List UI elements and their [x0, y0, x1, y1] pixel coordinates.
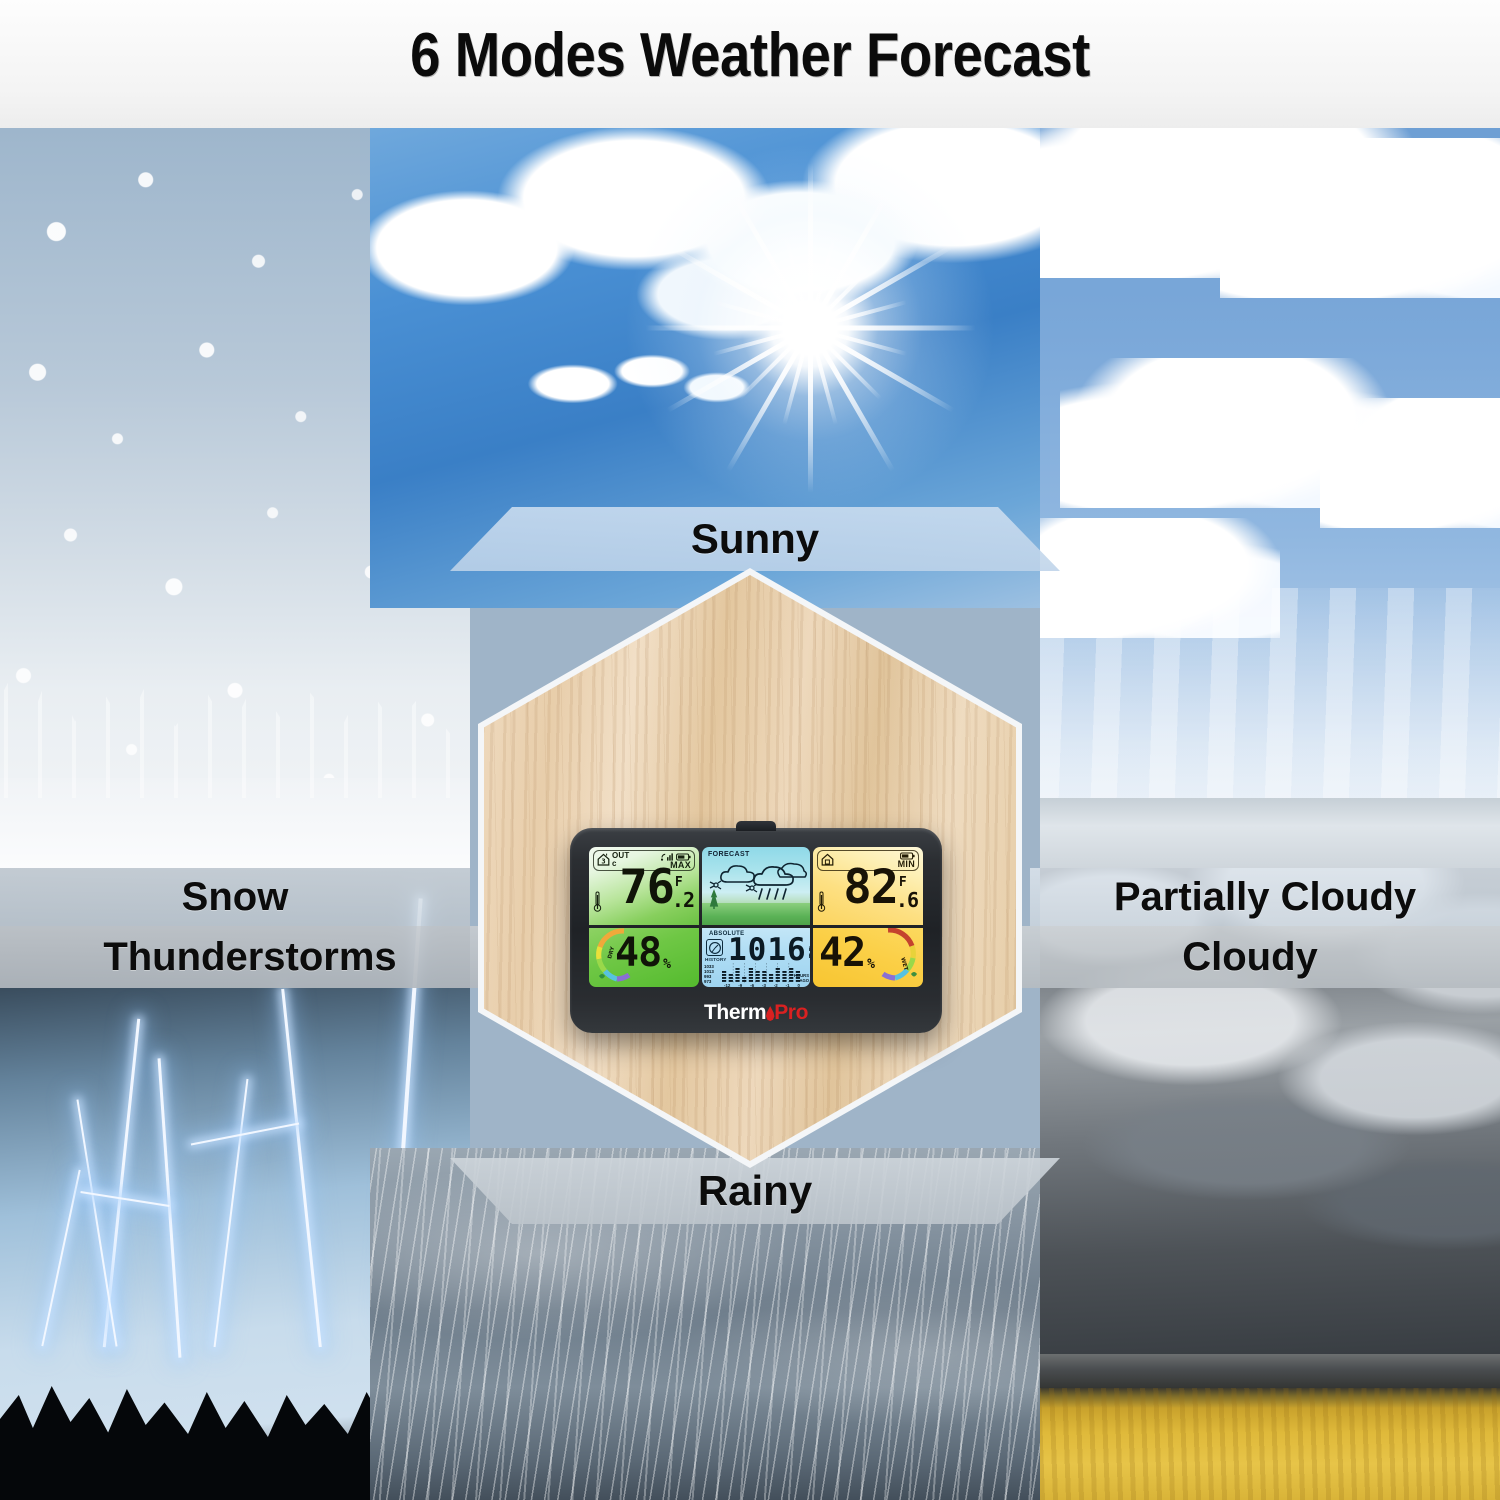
mode-label-text: Cloudy	[1182, 935, 1318, 980]
x-tick: 0	[798, 983, 800, 987]
y-tick: 973	[704, 979, 714, 984]
barometer-readout: 1016 in hPa	[728, 936, 810, 965]
brand-logo: ThermPro	[570, 1002, 942, 1023]
mode-label-rainy: Rainy	[450, 1158, 1060, 1224]
mode-label-text: Sunny	[691, 515, 819, 563]
ago-label: AGO	[794, 978, 809, 983]
barometer-y-axis: 1033 1013 993 973	[704, 964, 714, 984]
indoor-panel: MIN 82 F .6	[813, 847, 923, 987]
x-tick: -9	[738, 983, 742, 987]
thermometer-icon	[593, 891, 602, 913]
barometer-unit-secondary[interactable]: hPa	[809, 954, 810, 961]
lightning-bolt-icon	[281, 989, 322, 1347]
x-tick: -6	[750, 983, 754, 987]
lightning-bolt-icon	[76, 1099, 117, 1346]
wheat-field	[1040, 1388, 1500, 1500]
snow-trees	[0, 628, 470, 798]
outdoor-temperature-readout: 76 F .2	[619, 866, 694, 910]
indoor-temperature-readout: 82 F .6	[843, 866, 918, 910]
mode-label-snow: Snow	[0, 868, 470, 926]
indoor-humidity-unit: %	[867, 958, 874, 971]
outdoor-humidity-value: 48	[615, 934, 661, 972]
lightning-bolt-icon	[191, 1123, 299, 1146]
forecast-cell: FORECAST	[702, 847, 810, 925]
barometer-x-axis: -12 -9 -6 -3 -2 -1 0	[724, 983, 800, 987]
device-sensor-nub	[736, 821, 776, 831]
outdoor-temperature-cell: 3 OUT c	[589, 847, 699, 925]
x-tick: -3	[762, 983, 766, 987]
mode-label-text: Partially Cloudy	[1114, 875, 1416, 920]
outdoor-temp-integer: 76	[619, 866, 674, 910]
indoor-humidity-cell: WET 42 %	[813, 928, 923, 987]
barometer-history-label: HISTORY	[705, 957, 727, 962]
mode-label-text: Rainy	[698, 1167, 812, 1215]
indoor-humidity-readout: 42 %	[819, 934, 874, 972]
outdoor-humidity-unit: %	[663, 958, 670, 971]
comfort-gauge-icon: WET	[875, 928, 921, 986]
brand-part1: Therm	[704, 1001, 766, 1024]
indoor-temp-tail: F .6	[899, 866, 918, 910]
outdoor-temp-tail: F .2	[675, 866, 694, 910]
thermometer-icon	[817, 891, 826, 913]
lightning-bolt-icon	[214, 1079, 249, 1347]
x-tick: -12	[724, 983, 730, 987]
outdoor-humidity-cell: DRY 48 %	[589, 928, 699, 987]
barometer-right-labels: HOURS AGO	[794, 973, 809, 983]
house-antenna-icon: 3	[597, 853, 610, 866]
mode-label-thunderstorms: Thunderstorms	[0, 926, 500, 988]
indoor-status-left	[821, 852, 834, 866]
house-indoor-icon	[821, 853, 834, 866]
distant-field	[1040, 798, 1500, 868]
mode-label-sunny: Sunny	[450, 507, 1060, 571]
svg-text:3: 3	[601, 857, 605, 865]
barometer-units: in hPa	[809, 947, 810, 960]
outdoor-temp-decimal: .2	[672, 891, 694, 910]
weather-photo-partially-cloudy	[1040, 128, 1500, 868]
mode-label-text: Thunderstorms	[103, 935, 396, 980]
sun-icon	[600, 128, 1020, 538]
outdoor-humidity-readout: 48 %	[615, 934, 670, 972]
horizon-strip	[1040, 1354, 1500, 1388]
forecast-label: FORECAST	[708, 851, 750, 858]
header-bar: 6 Modes Weather Forecast	[0, 0, 1500, 128]
barometer-cell: ABSOLUTE HISTORY 1016 in hPa	[702, 928, 810, 987]
lcd-screen: 3 OUT c	[589, 847, 923, 987]
indoor-temp-decimal: .6	[896, 891, 918, 910]
indoor-humidity-value: 42	[819, 934, 865, 972]
forecast-and-barometer-panel: FORECAST	[702, 847, 810, 987]
wind-icon	[709, 877, 722, 895]
barometer-value: 1016	[728, 936, 807, 965]
mode-label-partially-cloudy: Partially Cloudy	[1030, 868, 1500, 926]
lightning-bolt-icon	[158, 1058, 181, 1357]
weather-station-device[interactable]: 3 OUT c	[570, 828, 942, 1033]
svg-text:WET: WET	[899, 957, 909, 972]
cumulus-cloud	[1220, 138, 1500, 298]
mode-label-cloudy: Cloudy	[1000, 926, 1500, 988]
rain-cloud-icon	[752, 859, 808, 912]
weather-collage: Sunny Snow Thunderstorms Partially Cloud…	[0, 128, 1500, 1500]
cumulus-cloud	[1320, 398, 1500, 528]
x-tick: -2	[774, 983, 778, 987]
barometer-icon	[706, 939, 723, 956]
brand-part2: Pro	[774, 1001, 808, 1024]
indoor-temperature-cell: MIN 82 F .6	[813, 847, 923, 925]
barometer-history-chart	[722, 963, 798, 985]
x-tick: -1	[786, 983, 790, 987]
lightning-bolt-icon	[41, 1170, 80, 1346]
indoor-temp-integer: 82	[843, 866, 898, 910]
outdoor-panel: 3 OUT c	[589, 847, 699, 987]
mode-label-text: Snow	[182, 875, 289, 920]
page-title: 6 Modes Weather Forecast	[90, 20, 1410, 91]
